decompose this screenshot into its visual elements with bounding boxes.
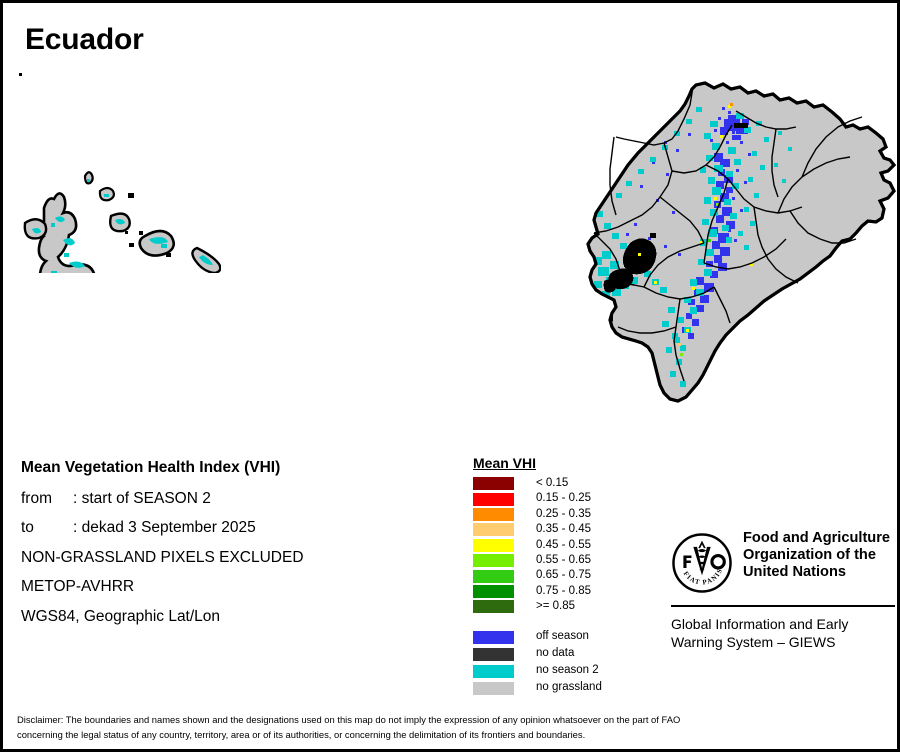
disclaimer-line: concerning the legal status of any count… [17,728,883,743]
legend-status-item: off season [473,629,633,646]
disclaimer: Disclaimer: The boundaries and names sho… [17,713,883,742]
legend-swatch-icon [473,648,514,661]
legend-item: 0.65 - 0.75 [473,568,633,583]
legend-swatch-icon [473,477,514,490]
legend-label: no grassland [536,682,602,694]
legend-label: no season 2 [536,665,599,677]
info-to-key: to [21,520,73,536]
legend-label: 0.15 - 0.25 [536,493,591,505]
info-from-value: start of SEASON 2 [82,491,211,507]
fao-organization-name: Food and Agriculture Organization of the… [743,530,890,582]
legend-item: 0.45 - 0.55 [473,538,633,553]
legend-swatch-icon [473,665,514,678]
legend-label: 0.25 - 0.35 [536,509,591,521]
legend-label: off season [536,631,589,643]
info-projection: WGS84, Geographic Lat/Lon [21,609,441,625]
info-to-sep: : [73,520,82,536]
legend-swatch-icon [473,554,514,567]
map-info-block: Mean Vegetation Health Index (VHI) from … [21,460,441,638]
fao-emblem-icon: FIAT PANIS [671,532,733,594]
info-from-sep: : [73,491,82,507]
ecuador-mainland-map [568,81,898,411]
legend-swatch-icon [473,539,514,552]
giews-line: Warning System – GIEWS [671,634,895,652]
legend-label: 0.35 - 0.45 [536,524,591,536]
legend-label: 0.45 - 0.55 [536,540,591,552]
legend-swatch-icon [473,523,514,536]
info-from-row: from : start of SEASON 2 [21,491,441,507]
legend-label: 0.65 - 0.75 [536,570,591,582]
fao-name-line: United Nations [743,564,890,581]
fao-name-line: Food and Agriculture [743,530,890,547]
legend-item: 0.25 - 0.35 [473,507,633,522]
legend: Mean VHI < 0.15 0.15 - 0.25 0.25 - 0.35 … [473,455,633,697]
galapagos-islands-map [11,63,221,273]
info-heading: Mean Vegetation Health Index (VHI) [21,460,441,476]
info-sensor: METOP-AVHRR [21,579,441,595]
legend-item: 0.75 - 0.85 [473,584,633,599]
legend-status-item: no grassland [473,680,633,697]
galapagos-islands [19,73,220,273]
page-title: Ecuador [25,23,144,57]
legend-label: < 0.15 [536,478,568,490]
legend-swatch-icon [473,682,514,695]
legend-swatch-icon [473,631,514,644]
legend-title: Mean VHI [473,455,536,471]
info-from-key: from [21,491,73,507]
disclaimer-line: Disclaimer: The boundaries and names sho… [17,713,883,728]
info-to-row: to : dekad 3 September 2025 [21,520,441,536]
info-to-value: dekad 3 September 2025 [82,520,256,536]
legend-label: no data [536,648,574,660]
legend-item: < 0.15 [473,476,633,491]
legend-status-item: no data [473,646,633,663]
legend-status-item: no season 2 [473,663,633,680]
legend-swatch-icon [473,585,514,598]
giews-line: Global Information and Early [671,616,895,634]
legend-swatch-icon [473,570,514,583]
legend-item: 0.15 - 0.25 [473,491,633,506]
legend-label: 0.75 - 0.85 [536,586,591,598]
legend-swatch-icon [473,600,514,613]
legend-label: 0.55 - 0.65 [536,555,591,567]
legend-swatch-icon [473,493,514,506]
fao-branding-block: FIAT PANIS Food and Agriculture Organiza… [671,530,895,652]
fao-name-line: Organization of the [743,547,890,564]
fao-divider [671,605,895,607]
giews-subtitle: Global Information and Early Warning Sys… [671,616,895,652]
legend-item: >= 0.85 [473,599,633,614]
info-pixel-note: NON-GRASSLAND PIXELS EXCLUDED [21,550,441,566]
map-page: Ecuador [0,0,900,752]
legend-item: 0.35 - 0.45 [473,522,633,537]
legend-item: 0.55 - 0.65 [473,553,633,568]
legend-label: >= 0.85 [536,601,575,613]
legend-swatch-icon [473,508,514,521]
legend-separator [473,615,633,629]
fao-header: FIAT PANIS Food and Agriculture Organiza… [671,530,895,594]
